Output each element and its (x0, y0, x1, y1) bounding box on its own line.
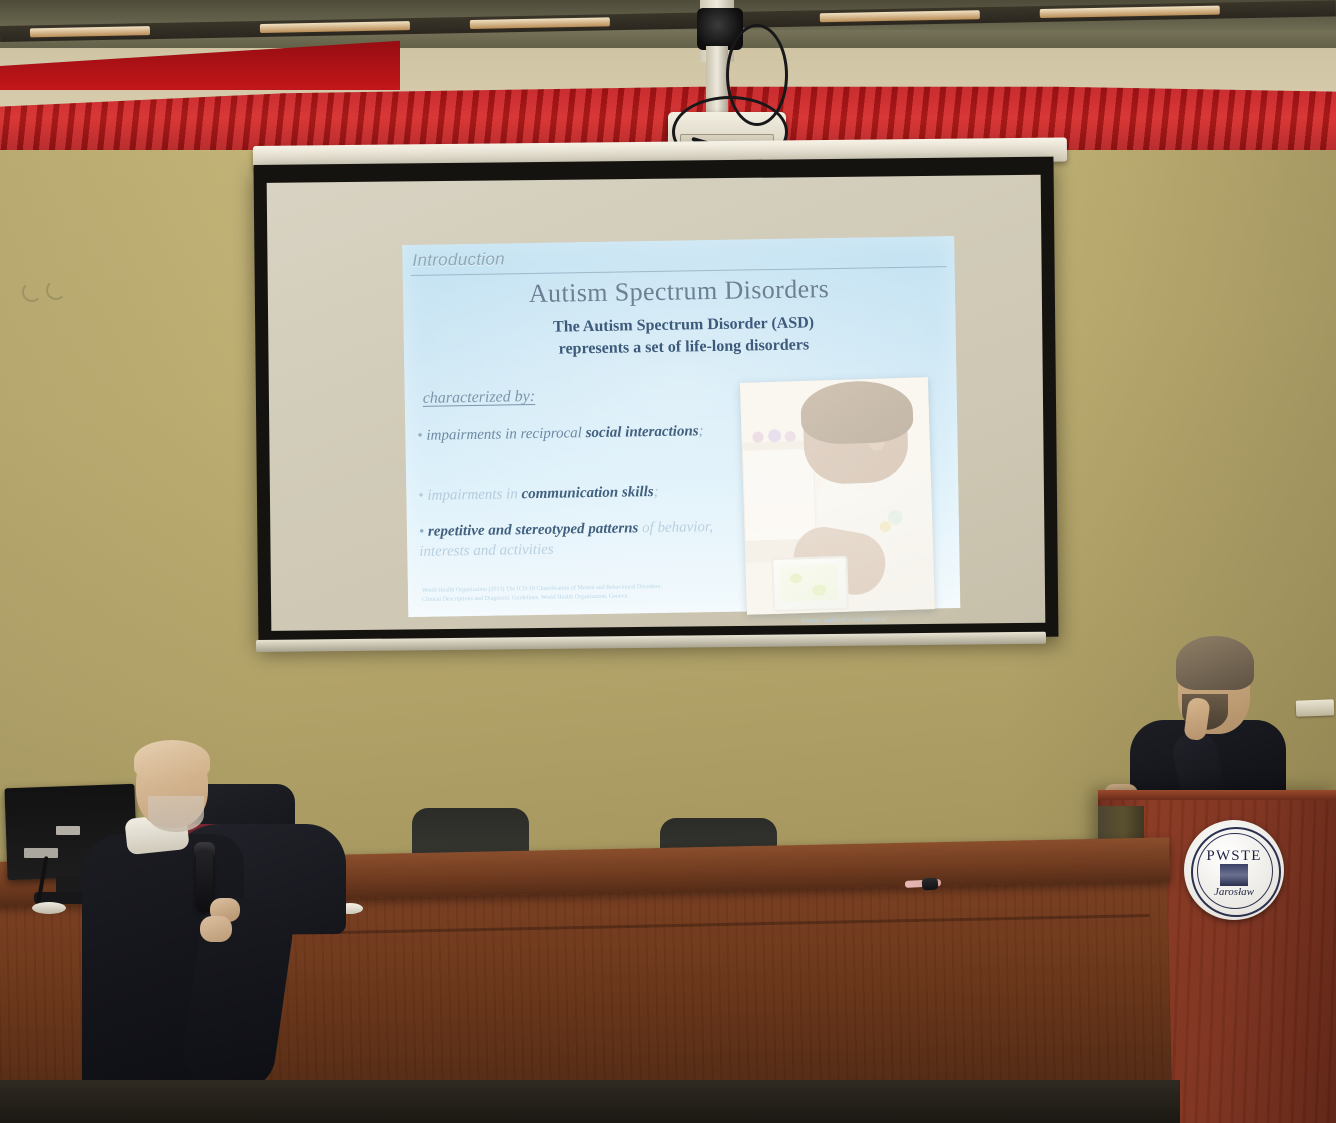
podium-top-edge (1098, 790, 1336, 800)
logo-crest-icon (1220, 864, 1248, 886)
bullet-text-bold: social interactions (586, 423, 699, 441)
pwste-logo: PWSTE Jarosław (1184, 820, 1284, 920)
slide-photo-child-with-tablet (740, 377, 935, 615)
bullet-text-bold: communication skills (521, 484, 653, 502)
screen-surface: Introduction Autism Spectrum Disorders T… (267, 175, 1046, 631)
presentation-slide: Introduction Autism Spectrum Disorders T… (402, 236, 960, 617)
bullet-marker: • (418, 488, 424, 504)
photo-washout-overlay (740, 377, 935, 615)
slide-photo-caption: Source: authors' own material (748, 614, 938, 625)
monitor-label (24, 848, 58, 858)
logo-acronym: PWSTE (1184, 848, 1284, 865)
track-lamp (1040, 6, 1220, 18)
track-lamp (820, 10, 980, 22)
track-lamp (470, 17, 610, 29)
track-lamp (260, 21, 410, 33)
floor (0, 1080, 1180, 1123)
slide-bullet: • repetitive and stereotyped patterns of… (419, 518, 720, 562)
bullet-text-bold: repetitive and stereotyped patterns (428, 520, 639, 539)
speaker-hair (1176, 636, 1254, 690)
slide-subtitle: The Autism Spectrum Disorder (ASD) repre… (463, 311, 904, 361)
laser-pointer-cap (922, 878, 939, 891)
wall-hook-icon (22, 282, 42, 302)
presenter-hand (200, 916, 232, 942)
track-lamp (30, 26, 150, 37)
wall-hook-icon (46, 280, 66, 300)
projection-screen[interactable]: Introduction Autism Spectrum Disorders T… (253, 157, 1058, 645)
bullet-text-tail: ; (653, 484, 658, 500)
presenter-scalp (134, 740, 210, 780)
bullet-marker: • (417, 428, 423, 444)
bullet-text-plain: impairments in reciprocal (426, 425, 586, 444)
bullet-text-plain: impairments in (427, 486, 521, 504)
wall-outlet[interactable] (1296, 699, 1335, 716)
bullet-text-tail: ; (698, 423, 703, 439)
slide-lead-in: characterized by: (423, 388, 536, 408)
seated-presenter (74, 738, 294, 1123)
gooseneck-microphone-base (32, 902, 66, 914)
logo-city: Jarosław (1184, 886, 1284, 898)
projector-cable (726, 24, 788, 126)
bullet-marker: • (419, 524, 425, 540)
standing-speaker (1120, 636, 1290, 816)
presenter-beard (148, 796, 204, 832)
slide-kicker: Introduction (412, 249, 505, 271)
lecture-hall-photo: Introduction Autism Spectrum Disorders T… (0, 0, 1336, 1123)
